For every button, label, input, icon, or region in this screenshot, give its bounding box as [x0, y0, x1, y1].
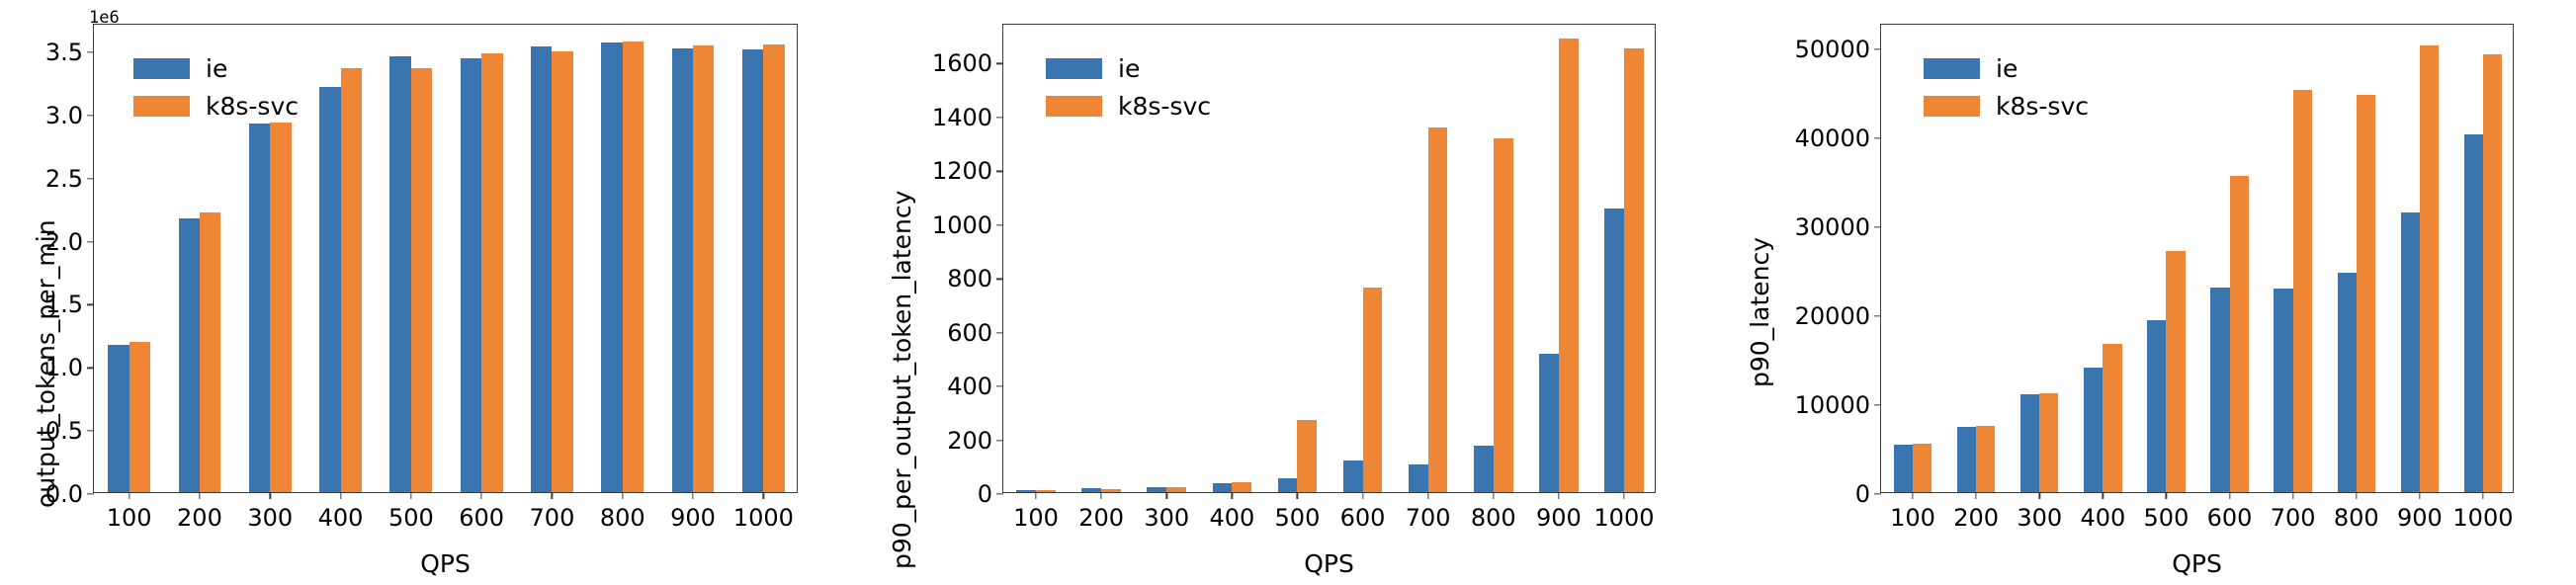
x-axis-tick-mark: [1427, 492, 1428, 499]
chart-panel-output-tokens-per-min: 1e6 output_tokens_per_min 0.00.51.01.52.…: [0, 0, 860, 585]
x-axis-tick-mark: [2166, 492, 2167, 499]
legend-label-ie: ie: [1118, 56, 1140, 81]
bar-k8s-svc-300: [2039, 393, 2058, 492]
x-axis-tick-mark: [340, 492, 341, 499]
y-axis-tick-label: 1400: [932, 104, 1003, 131]
legend-swatch-ie-icon: [133, 58, 190, 79]
x-axis-tick-mark: [2419, 492, 2420, 499]
bar-k8s-svc-900: [693, 45, 714, 492]
bar-ie-1000: [1604, 209, 1624, 492]
legend-entry-ie: ie: [1924, 56, 2089, 81]
y-axis-tick-mark: [87, 304, 94, 305]
bar-k8s-svc-500: [411, 68, 432, 492]
bar-ie-400: [1213, 483, 1233, 492]
bar-ie-900: [2401, 212, 2420, 492]
y-axis-tick-mark: [87, 430, 94, 431]
y-axis-tick-mark: [1874, 404, 1881, 405]
x-axis-tick-mark: [270, 492, 271, 499]
y-axis-tick-mark: [1874, 493, 1881, 494]
bar-k8s-svc-200: [200, 212, 220, 492]
bar-ie-500: [1278, 478, 1298, 492]
x-axis-tick-mark: [2292, 492, 2293, 499]
y-axis-tick-mark: [996, 171, 1003, 172]
bar-ie-100: [108, 345, 129, 492]
legend-swatch-k8s-svc-icon: [1046, 96, 1102, 117]
y-axis-tick-mark: [996, 493, 1003, 494]
y-axis-tick-mark: [87, 115, 94, 116]
y-axis-label-3: p90_latency: [1746, 237, 1774, 387]
bar-k8s-svc-400: [341, 68, 362, 492]
x-axis-tick-mark: [1100, 492, 1101, 499]
bar-k8s-svc-200: [1976, 426, 1995, 492]
multi-panel-bar-chart-figure: 1e6 output_tokens_per_min 0.00.51.01.52.…: [0, 0, 2576, 585]
bar-ie-100: [1894, 445, 1913, 492]
bar-k8s-svc-500: [2166, 251, 2185, 492]
y-axis-tick-label: 1000: [932, 211, 1003, 239]
x-axis-tick-mark: [1623, 492, 1624, 499]
legend-label-k8s-svc: k8s-svc: [206, 94, 299, 119]
y-axis-tick-label: 20000: [1795, 302, 1881, 330]
bar-k8s-svc-500: [1297, 420, 1317, 492]
x-axis-tick-mark: [1975, 492, 1976, 499]
chart-panel-p90-latency: p90_latency 0100002000030000400005000010…: [1716, 0, 2576, 585]
y-axis-tick-mark: [996, 440, 1003, 441]
y-axis-tick-label: 10000: [1795, 391, 1881, 419]
x-axis-tick-mark: [763, 492, 764, 499]
x-axis-label-1: QPS: [93, 549, 798, 578]
bar-k8s-svc-600: [2230, 176, 2249, 492]
bar-k8s-svc-700: [1428, 127, 1448, 492]
y-axis-tick-mark: [87, 368, 94, 369]
y-axis-tick-mark: [996, 332, 1003, 333]
bar-ie-300: [249, 124, 270, 492]
bar-k8s-svc-600: [481, 53, 502, 492]
bar-ie-900: [1539, 354, 1559, 492]
bar-k8s-svc-800: [2357, 95, 2375, 492]
y-axis-tick-label: 400: [947, 373, 1003, 400]
bar-ie-600: [1343, 460, 1363, 492]
y-axis-tick-label: 600: [947, 319, 1003, 347]
bar-ie-200: [1957, 427, 1976, 492]
x-axis-tick-mark: [1362, 492, 1363, 499]
bar-k8s-svc-400: [1232, 482, 1251, 492]
bar-k8s-svc-900: [2420, 45, 2439, 493]
bar-k8s-svc-1000: [763, 44, 784, 492]
y-axis-tick-mark: [996, 279, 1003, 280]
x-axis-tick-mark: [692, 492, 693, 499]
y-axis-tick-mark: [87, 51, 94, 52]
legend-1: ie k8s-svc: [133, 56, 299, 119]
bar-ie-600: [461, 58, 481, 492]
bar-k8s-svc-100: [129, 342, 150, 492]
bar-ie-700: [1409, 464, 1428, 492]
bar-ie-600: [2210, 288, 2229, 492]
legend-3: ie k8s-svc: [1924, 56, 2089, 119]
x-axis-tick-mark: [622, 492, 623, 499]
x-axis-tick-mark: [1166, 492, 1167, 499]
legend-label-k8s-svc: k8s-svc: [1996, 94, 2089, 119]
x-axis-tick-mark: [1558, 492, 1559, 499]
bar-k8s-svc-100: [1913, 444, 1932, 492]
x-axis-label-3: QPS: [1880, 549, 2514, 578]
bar-ie-900: [672, 48, 693, 492]
y-axis-label-2: p90_per_output_token_latency: [888, 191, 916, 569]
bar-ie-400: [319, 87, 340, 492]
bar-k8s-svc-900: [1559, 39, 1579, 492]
legend-label-k8s-svc: k8s-svc: [1118, 94, 1211, 119]
x-axis-tick-mark: [552, 492, 553, 499]
bar-k8s-svc-400: [2103, 344, 2121, 492]
x-axis-tick-mark: [1297, 492, 1298, 499]
legend-label-ie: ie: [1996, 56, 2018, 81]
y-axis-tick-mark: [1874, 315, 1881, 316]
bar-ie-700: [531, 46, 552, 492]
y-axis-tick-label: 40000: [1795, 125, 1881, 152]
y-axis-tick-label: 50000: [1795, 36, 1881, 63]
legend-entry-k8s-svc: k8s-svc: [1924, 94, 2089, 119]
x-axis-tick-mark: [1493, 492, 1494, 499]
x-axis-tick-mark: [2229, 492, 2230, 499]
y-axis-tick-mark: [996, 117, 1003, 118]
bar-ie-200: [179, 218, 200, 492]
bar-ie-800: [601, 42, 622, 492]
bar-ie-700: [2274, 289, 2292, 492]
bar-k8s-svc-600: [1363, 288, 1383, 492]
x-axis-tick-mark: [2103, 492, 2104, 499]
legend-entry-ie: ie: [1046, 56, 1211, 81]
legend-entry-k8s-svc: k8s-svc: [133, 94, 299, 119]
x-axis-tick-mark: [410, 492, 411, 499]
x-axis-tick-mark: [2482, 492, 2483, 499]
y-axis-tick-label: 1600: [932, 49, 1003, 77]
bar-k8s-svc-800: [623, 42, 644, 492]
y-axis-tick-label: 800: [947, 265, 1003, 292]
y-axis-tick-mark: [1874, 137, 1881, 138]
y-axis-tick-mark: [87, 493, 94, 494]
x-axis-tick-mark: [2039, 492, 2040, 499]
bar-ie-300: [2020, 394, 2039, 492]
x-axis-tick-mark: [480, 492, 481, 499]
y-axis-tick-label: 1200: [932, 157, 1003, 185]
bar-ie-800: [2338, 273, 2357, 492]
legend-swatch-ie-icon: [1924, 58, 1980, 79]
y-axis-tick-mark: [1874, 49, 1881, 50]
bar-ie-500: [389, 56, 410, 492]
y-axis-tick-mark: [996, 385, 1003, 386]
x-axis-tick-mark: [1035, 492, 1036, 499]
y-axis-tick-mark: [87, 178, 94, 179]
x-axis-tick-mark: [1912, 492, 1913, 499]
bar-ie-1000: [742, 49, 763, 492]
y-axis-tick-label: 30000: [1795, 213, 1881, 241]
x-axis-label-2: QPS: [1002, 549, 1656, 578]
bar-ie-400: [2084, 368, 2103, 492]
x-axis-tick-mark: [199, 492, 200, 499]
bar-ie-800: [1474, 446, 1494, 492]
bar-ie-500: [2147, 320, 2166, 492]
bar-k8s-svc-800: [1494, 138, 1513, 492]
legend-2: ie k8s-svc: [1046, 56, 1211, 119]
legend-label-ie: ie: [206, 56, 227, 81]
y-axis-tick-mark: [87, 241, 94, 242]
bar-ie-1000: [2464, 134, 2483, 492]
bar-k8s-svc-1000: [1624, 48, 1644, 492]
legend-swatch-k8s-svc-icon: [133, 96, 190, 117]
y-axis-tick-mark: [996, 63, 1003, 64]
legend-entry-ie: ie: [133, 56, 299, 81]
y-axis-tick-mark: [996, 224, 1003, 225]
y-axis-tick-label: 200: [947, 427, 1003, 455]
y-axis-tick-mark: [1874, 226, 1881, 227]
legend-entry-k8s-svc: k8s-svc: [1046, 94, 1211, 119]
legend-swatch-ie-icon: [1046, 58, 1102, 79]
legend-swatch-k8s-svc-icon: [1924, 96, 1980, 117]
bar-k8s-svc-700: [2293, 90, 2312, 492]
bar-k8s-svc-1000: [2483, 54, 2502, 493]
bar-k8s-svc-300: [270, 123, 291, 492]
x-axis-tick-mark: [129, 492, 129, 499]
bar-k8s-svc-700: [552, 51, 572, 492]
chart-panel-p90-per-output-token-latency: p90_per_output_token_latency 02004006008…: [858, 0, 1718, 585]
x-axis-tick-mark: [1232, 492, 1233, 499]
x-axis-tick-mark: [2356, 492, 2357, 499]
